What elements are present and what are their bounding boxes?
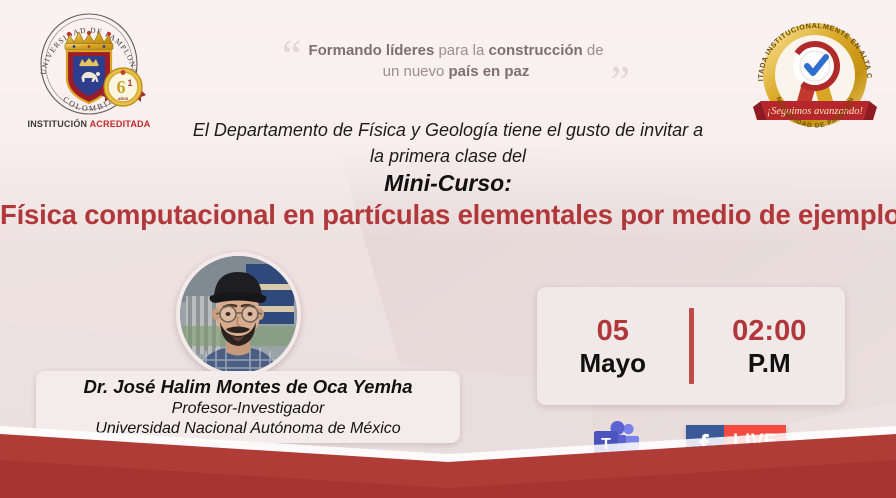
- tagline-bold-3: país en paz: [449, 63, 530, 80]
- tagline-bold-2: construcción: [489, 42, 583, 59]
- university-seal-graphic: UNIVERSIDAD DE PAMPLONA COLOMBIA: [22, 10, 156, 118]
- event-date-column: 05 Mayo: [537, 314, 689, 379]
- mini-curso-label: Mini-Curso:: [128, 170, 768, 197]
- event-day: 05: [537, 314, 689, 348]
- svg-text:6: 6: [117, 77, 126, 97]
- course-title: Física computacional en partículas eleme…: [0, 199, 896, 231]
- event-meridiem: P.M: [694, 348, 846, 379]
- tagline-plain-1: para la: [434, 42, 488, 59]
- event-datetime-card: 05 Mayo 02:00 P.M: [537, 287, 845, 405]
- footer-band: [0, 420, 896, 498]
- tagline-plain-2: de: [583, 42, 604, 59]
- tagline-bold-1: Formando líderes: [308, 42, 434, 59]
- event-month: Mayo: [537, 348, 689, 379]
- anniversary-medal-icon: 6 1 AÑOS: [98, 62, 148, 112]
- tagline: “ ” Formando líderes para la construcció…: [276, 40, 636, 83]
- invitation-text: El Departamento de Física y Geología tie…: [128, 118, 768, 169]
- tagline-line-1: Formando líderes para la construcción de: [276, 40, 636, 61]
- tagline-plain-3: un nuevo: [383, 63, 449, 80]
- svg-text:AÑOS: AÑOS: [118, 96, 129, 101]
- event-time: 02:00: [694, 314, 846, 348]
- event-time-column: 02:00 P.M: [694, 314, 846, 379]
- invitation-line-1: El Departamento de Física y Geología tie…: [128, 118, 768, 144]
- svg-text:1: 1: [127, 78, 132, 88]
- speaker-role: Profesor-Investigador: [172, 399, 325, 419]
- invitation-line-2: la primera clase del: [128, 144, 768, 170]
- speaker-name: Dr. José Halim Montes de Oca Yemha: [83, 376, 412, 399]
- tagline-line-2: un nuevo país en paz: [276, 61, 636, 82]
- poster-canvas: UNIVERSIDAD DE PAMPLONA COLOMBIA: [0, 0, 896, 498]
- speaker-photo: [176, 252, 301, 377]
